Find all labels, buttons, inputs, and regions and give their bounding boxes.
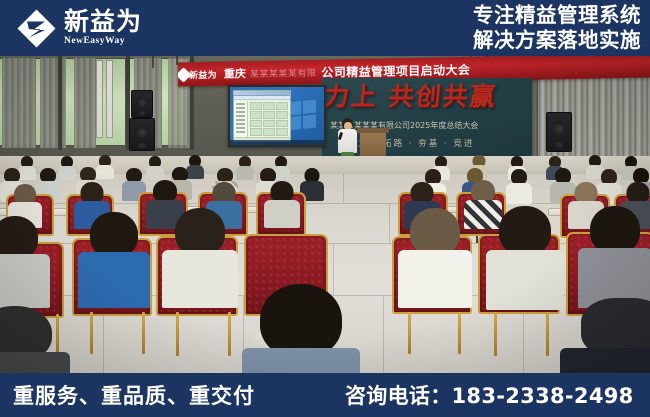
window-blind [96, 60, 103, 138]
file-explorer-window [233, 90, 291, 142]
header-slogan: 专注精益管理系统 解决方案落地实施 [473, 3, 641, 53]
banner-brand-name: 新益为 [189, 67, 217, 81]
slogan-line-2: 解决方案落地实施 [473, 28, 641, 53]
foreground-attendee [242, 284, 360, 373]
diamond-swirl-logo-icon [16, 8, 57, 49]
window-curtain [40, 58, 66, 148]
backdrop-headline: 力上 共创共赢 [322, 82, 531, 112]
foreground-attendee [560, 298, 650, 373]
footer-tagline: 重服务、重品质、重交付 [13, 380, 255, 410]
page-footer: 重服务、重品质、重交付 咨询电话：183-2338-2498 [0, 373, 650, 417]
page-header: 新益为 NewEasyWay 专注精益管理系统 解决方案落地实施 [0, 0, 650, 56]
windows-taskbar [230, 140, 324, 145]
stage-area: 新益为 重庆 某某某某某有限 公司精益管理项目启动大会 力上 共创共赢 某某市某… [0, 56, 650, 168]
brand-name-en: NewEasyWay [64, 35, 142, 47]
footer-contact: 咨询电话：183-2338-2498 [345, 380, 634, 410]
brand-name-cn: 新益为 [64, 9, 142, 34]
pa-speaker [131, 90, 153, 118]
banner-company-blurred: 某某某某某有限 [250, 65, 317, 79]
promo-banner-page: 新益为 NewEasyWay 专注精益管理系统 解决方案落地实施 [0, 0, 650, 417]
slogan-line-1: 专注精益管理系统 [473, 3, 641, 28]
window-curtain [74, 58, 96, 148]
conference-photo: 新益为 重庆 某某某某某有限 公司精益管理项目启动大会 力上 共创共赢 某某市某… [0, 56, 650, 373]
projection-screen [228, 85, 326, 147]
brand-logo[interactable]: 新益为 NewEasyWay [16, 6, 142, 50]
foreground-attendee [0, 306, 70, 373]
windows-logo-icon [288, 100, 316, 131]
window-curtain [2, 58, 36, 148]
pa-speaker [546, 112, 572, 152]
pa-speaker [129, 118, 155, 151]
banner-city: 重庆 [224, 65, 246, 81]
window-blind [106, 60, 113, 138]
brand-wordmark: 新益为 NewEasyWay [64, 9, 142, 47]
